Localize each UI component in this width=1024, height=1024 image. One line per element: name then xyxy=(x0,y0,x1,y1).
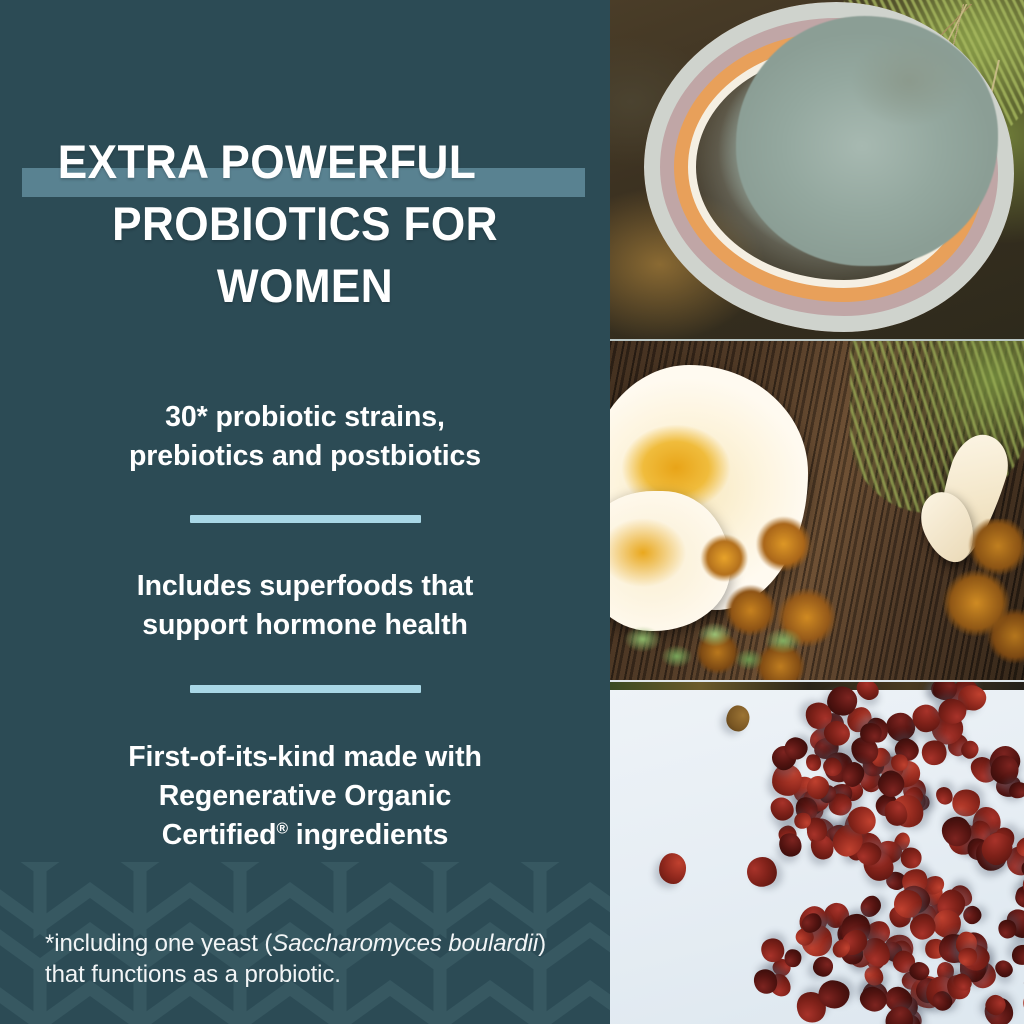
photo-chicken-of-the-woods xyxy=(610,341,1024,680)
benefit-regenerative-line-1: First-of-its-kind made with xyxy=(52,738,558,777)
headline-block: EXTRA POWERFUL PROBIOTICS FOR WOMEN xyxy=(0,131,610,317)
dried-berry xyxy=(937,698,966,723)
headline-line-3: WOMEN xyxy=(43,255,568,317)
benefit-regenerative-line-2: Regenerative Organic xyxy=(52,777,558,816)
footnote-prefix: *including one yeast ( xyxy=(45,930,272,957)
headline-line-2: PROBIOTICS FOR xyxy=(43,193,568,255)
green-foliage xyxy=(616,608,806,680)
left-content-panel: EXTRA POWERFUL PROBIOTICS FOR WOMEN 30* … xyxy=(0,0,610,1024)
benefit-item-regenerative: First-of-its-kind made with Regenerative… xyxy=(0,738,610,855)
benefit-regenerative-line-3: Certified® ingredients xyxy=(52,816,558,855)
benefit-superfoods-line-2: support hormone health xyxy=(52,606,558,645)
dried-berry xyxy=(658,852,686,883)
photo-reishi xyxy=(610,0,1024,339)
photo-column xyxy=(610,0,1024,1024)
benefit-strains-line-1: 30* probiotic strains, xyxy=(52,398,558,437)
benefit-strains-line-2: prebiotics and postbiotics xyxy=(52,437,558,476)
benefit-superfoods-line-1: Includes superfoods that xyxy=(52,567,558,606)
section-divider-2 xyxy=(190,685,421,693)
footnote: *including one yeast (Saccharomyces boul… xyxy=(45,928,555,990)
ingredients-text: ingredients xyxy=(288,819,448,851)
amber-fungus-cluster-right xyxy=(914,519,1024,669)
certified-text: Certified xyxy=(162,819,277,851)
benefit-item-strains: 30* probiotic strains, prebiotics and po… xyxy=(0,398,610,476)
benefits-list: 30* probiotic strains, prebiotics and po… xyxy=(0,398,610,855)
footnote-species: Saccharomyces boulardii xyxy=(272,930,538,957)
product-infographic: EXTRA POWERFUL PROBIOTICS FOR WOMEN 30* … xyxy=(0,0,1024,1024)
section-divider-1 xyxy=(190,515,421,523)
photo-dried-berries xyxy=(610,682,1024,1024)
benefit-item-superfoods: Includes superfoods that support hormone… xyxy=(0,567,610,645)
registered-mark-icon: ® xyxy=(276,821,287,838)
page-title: EXTRA POWERFUL PROBIOTICS FOR WOMEN xyxy=(18,131,591,317)
headline-line-1: EXTRA POWERFUL xyxy=(43,131,568,193)
